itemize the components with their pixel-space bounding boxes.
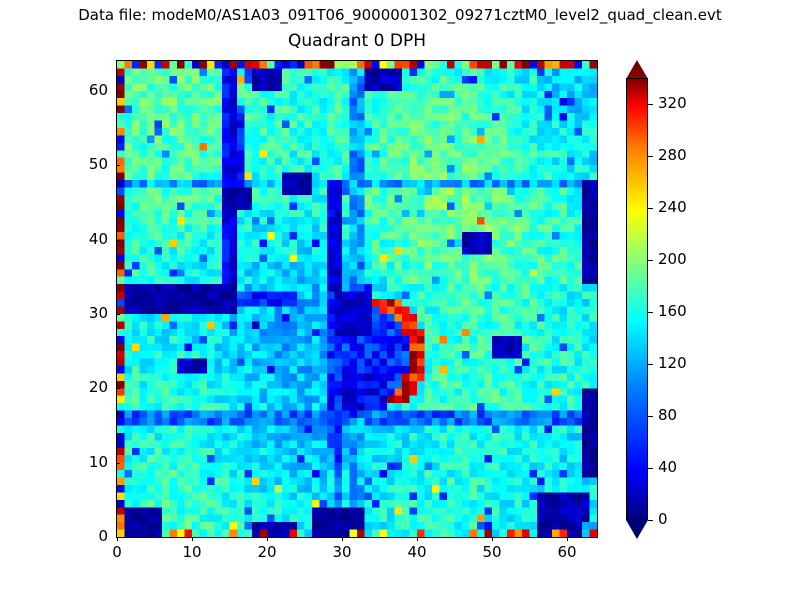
colorbar-tick-mark (648, 208, 653, 209)
plot-title: Quadrant 0 DPH (116, 31, 598, 51)
y-tick-label: 20 (48, 378, 108, 396)
colorbar-gradient[interactable] (626, 78, 648, 520)
y-tick-mark (116, 314, 120, 315)
x-tick-label: 60 (537, 543, 597, 561)
colorbar-tick-label: 80 (658, 406, 677, 424)
x-tick-mark (492, 537, 493, 541)
x-tick-mark (342, 537, 343, 541)
colorbar-tick-label: 320 (658, 94, 687, 112)
figure-canvas: Data file: modeM0/AS1A03_091T06_90000013… (0, 0, 800, 600)
x-tick-mark (192, 537, 193, 541)
colorbar-tick-label: 120 (658, 354, 687, 372)
x-tick-mark (267, 537, 268, 541)
x-tick-label: 10 (162, 543, 222, 561)
colorbar-tick-label: 0 (658, 510, 668, 528)
colorbar-tick-label: 240 (658, 198, 687, 216)
y-tick-label: 30 (48, 304, 108, 322)
colorbar[interactable]: 04080120160200240280320 (626, 60, 648, 538)
y-tick-mark (116, 537, 120, 538)
colorbar-tick-label: 40 (658, 458, 677, 476)
colorbar-tick-mark (648, 468, 653, 469)
y-tick-mark (116, 388, 120, 389)
y-tick-label: 0 (48, 527, 108, 545)
y-tick-label: 40 (48, 230, 108, 248)
x-tick-mark (567, 537, 568, 541)
x-tick-label: 0 (87, 543, 147, 561)
colorbar-tick-label: 200 (658, 250, 687, 268)
y-tick-mark (116, 240, 120, 241)
x-tick-label: 30 (312, 543, 372, 561)
colorbar-tick-mark (648, 416, 653, 417)
x-tick-label: 40 (387, 543, 447, 561)
x-tick-label: 50 (462, 543, 522, 561)
y-tick-label: 10 (48, 453, 108, 471)
colorbar-tick-mark (648, 156, 653, 157)
y-tick-mark (116, 165, 120, 166)
colorbar-tick-mark (648, 364, 653, 365)
x-tick-label: 20 (237, 543, 297, 561)
colorbar-over-arrow (626, 60, 648, 79)
y-tick-mark (116, 463, 120, 464)
y-tick-mark (116, 91, 120, 92)
colorbar-tick-mark (648, 260, 653, 261)
y-tick-label: 60 (48, 81, 108, 99)
colorbar-tick-label: 280 (658, 146, 687, 164)
colorbar-tick-mark (648, 520, 653, 521)
y-tick-label: 50 (48, 155, 108, 173)
colorbar-tick-label: 160 (658, 302, 687, 320)
colorbar-tick-mark (648, 312, 653, 313)
heatmap-image[interactable] (117, 61, 597, 537)
data-file-label: Data file: modeM0/AS1A03_091T06_90000013… (0, 6, 800, 24)
heatmap-axes[interactable] (116, 60, 598, 538)
colorbar-tick-mark (648, 104, 653, 105)
x-tick-mark (417, 537, 418, 541)
colorbar-under-arrow (626, 520, 648, 539)
